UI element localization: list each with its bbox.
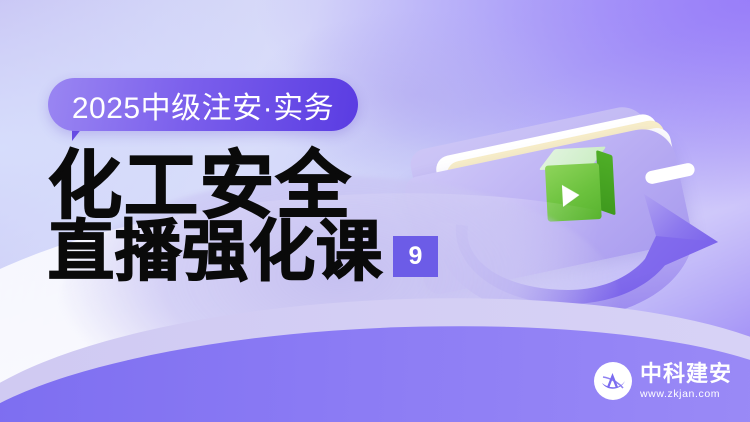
episode-number: 9 xyxy=(409,242,423,271)
course-category-badge: 2025中级注安·实务 xyxy=(48,78,358,131)
episode-badge: 9 xyxy=(393,236,438,277)
page-title: 化工安全 直播强化课 9 xyxy=(48,152,468,285)
title-line-1-row: 化工安全 xyxy=(48,152,468,222)
title-line-2: 直播强化课 xyxy=(48,222,383,285)
brand-text: 中科建安 www.zkjan.com xyxy=(640,363,732,400)
title-line-2-row: 直播强化课 9 xyxy=(48,222,468,285)
brand-name: 中科建安 xyxy=(640,363,732,385)
badge-label: 2025中级注安·实务 xyxy=(72,83,334,127)
course-poster: 2025中级注安·实务 化工安全 直播强化课 9 中科建安 www.zkjan.… xyxy=(0,0,750,422)
brand-logo: 中科建安 www.zkjan.com xyxy=(594,362,732,400)
brand-url: www.zkjan.com xyxy=(640,389,732,400)
mountain-swoosh-logo-icon xyxy=(594,362,632,400)
title-line-1: 化工安全 xyxy=(48,152,352,222)
